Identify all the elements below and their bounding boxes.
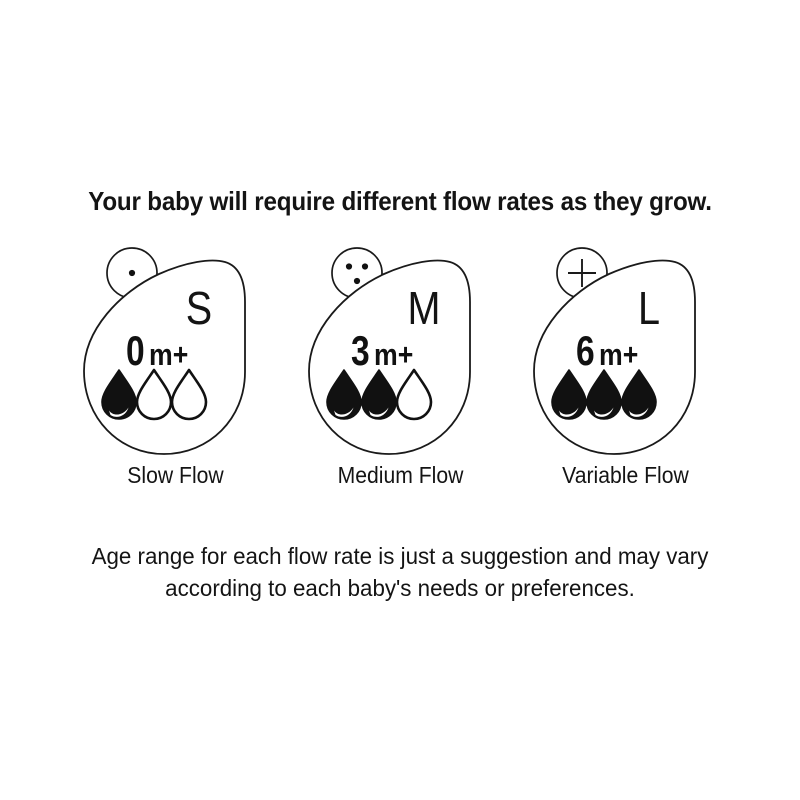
flow-rate-card-row: S 0 m+: [0, 252, 800, 517]
age-suffix-medium: m+: [374, 338, 413, 372]
size-letter-slow: S: [185, 283, 211, 334]
flow-label-variable: Variable Flow: [522, 462, 729, 489]
disclaimer-line-2: according to each baby's needs or prefer…: [56, 572, 744, 604]
age-number-variable: 6: [576, 329, 595, 375]
drop-indicator-group-variable: [552, 370, 656, 419]
flow-rate-card-variable: L 6 m+: [513, 252, 738, 517]
size-letter-medium: M: [407, 283, 440, 334]
age-number-medium: 3: [351, 329, 370, 375]
page-title: Your baby will require different flow ra…: [28, 186, 772, 217]
drop-indicator-group-medium: [327, 370, 431, 419]
flow-rate-card-medium: M 3 m+: [288, 252, 513, 517]
disclaimer-line-1: Age range for each flow rate is just a s…: [56, 540, 744, 572]
flow-label-medium: Medium Flow: [297, 462, 504, 489]
drop-indicator-group-slow: [102, 370, 206, 419]
flow-rate-infographic: Your baby will require different flow ra…: [0, 0, 800, 800]
nipple-illustration-medium: M 3 m+: [288, 252, 513, 467]
age-number-slow: 0: [126, 329, 145, 375]
nipple-illustration-slow: S 0 m+: [63, 252, 288, 467]
nipple-illustration-variable: L 6 m+: [513, 252, 738, 467]
flow-label-slow: Slow Flow: [72, 462, 279, 489]
size-letter-variable: L: [637, 283, 659, 334]
age-suffix-slow: m+: [149, 338, 188, 372]
disclaimer-note: Age range for each flow rate is just a s…: [56, 540, 744, 605]
age-suffix-variable: m+: [599, 338, 638, 372]
flow-rate-card-slow: S 0 m+: [63, 252, 288, 517]
